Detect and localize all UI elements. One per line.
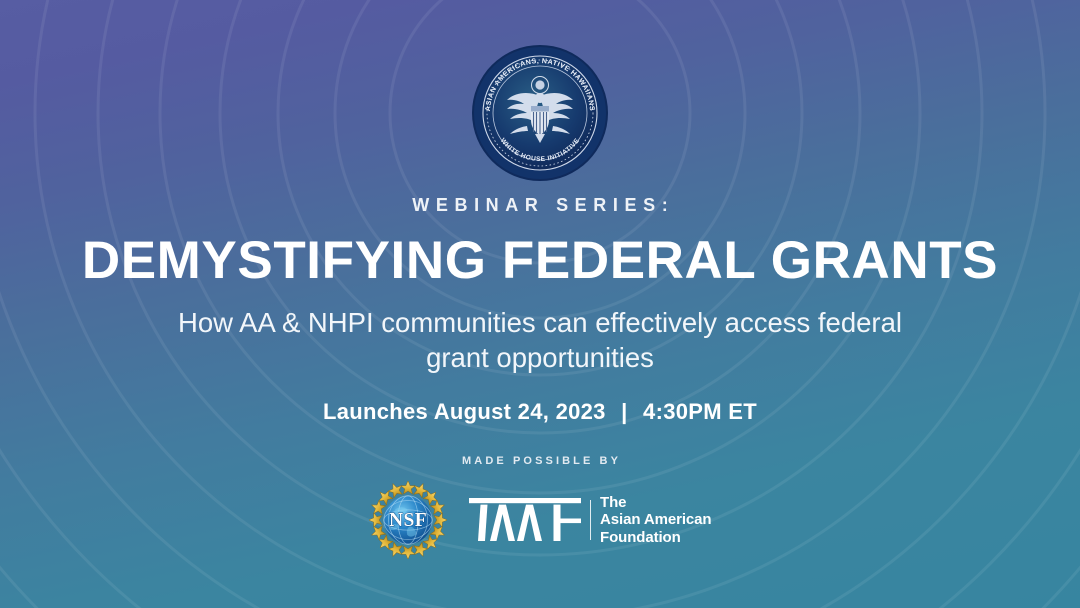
webinar-promo-poster: ASIAN AMERICANS, NATIVE HAWAIIANS WHITE … [0, 0, 1080, 608]
svg-text:NSF: NSF [389, 510, 427, 531]
launch-time: 4:30PM ET [643, 399, 757, 424]
nsf-logo: NSF [369, 481, 447, 559]
taaf-wordmark: The Asian American Foundation [600, 494, 711, 547]
taaf-divider [590, 500, 592, 540]
launch-datetime: Launches August 24, 2023 | 4:30PM ET [0, 399, 1080, 425]
launch-date: Launches August 24, 2023 [323, 399, 606, 424]
sponsor-logo-row: NSF [0, 481, 1080, 559]
taaf-logo: The Asian American Foundation [469, 494, 712, 547]
white-house-initiative-seal: ASIAN AMERICANS, NATIVE HAWAIIANS WHITE … [471, 44, 609, 182]
subtitle: How AA & NHPI communities can effectivel… [160, 306, 920, 375]
page-title: DEMYSTIFYING FEDERAL GRANTS [0, 233, 1080, 288]
made-possible-by-label: MADE POSSIBLE BY [0, 455, 1080, 467]
eyebrow-label: WEBINAR SERIES: [0, 196, 1080, 216]
taaf-monogram-icon [469, 498, 581, 542]
poster-content: WEBINAR SERIES: DEMYSTIFYING FEDERAL GRA… [0, 196, 1080, 425]
sponsors-section: MADE POSSIBLE BY [0, 455, 1080, 559]
datetime-separator: | [612, 399, 636, 424]
